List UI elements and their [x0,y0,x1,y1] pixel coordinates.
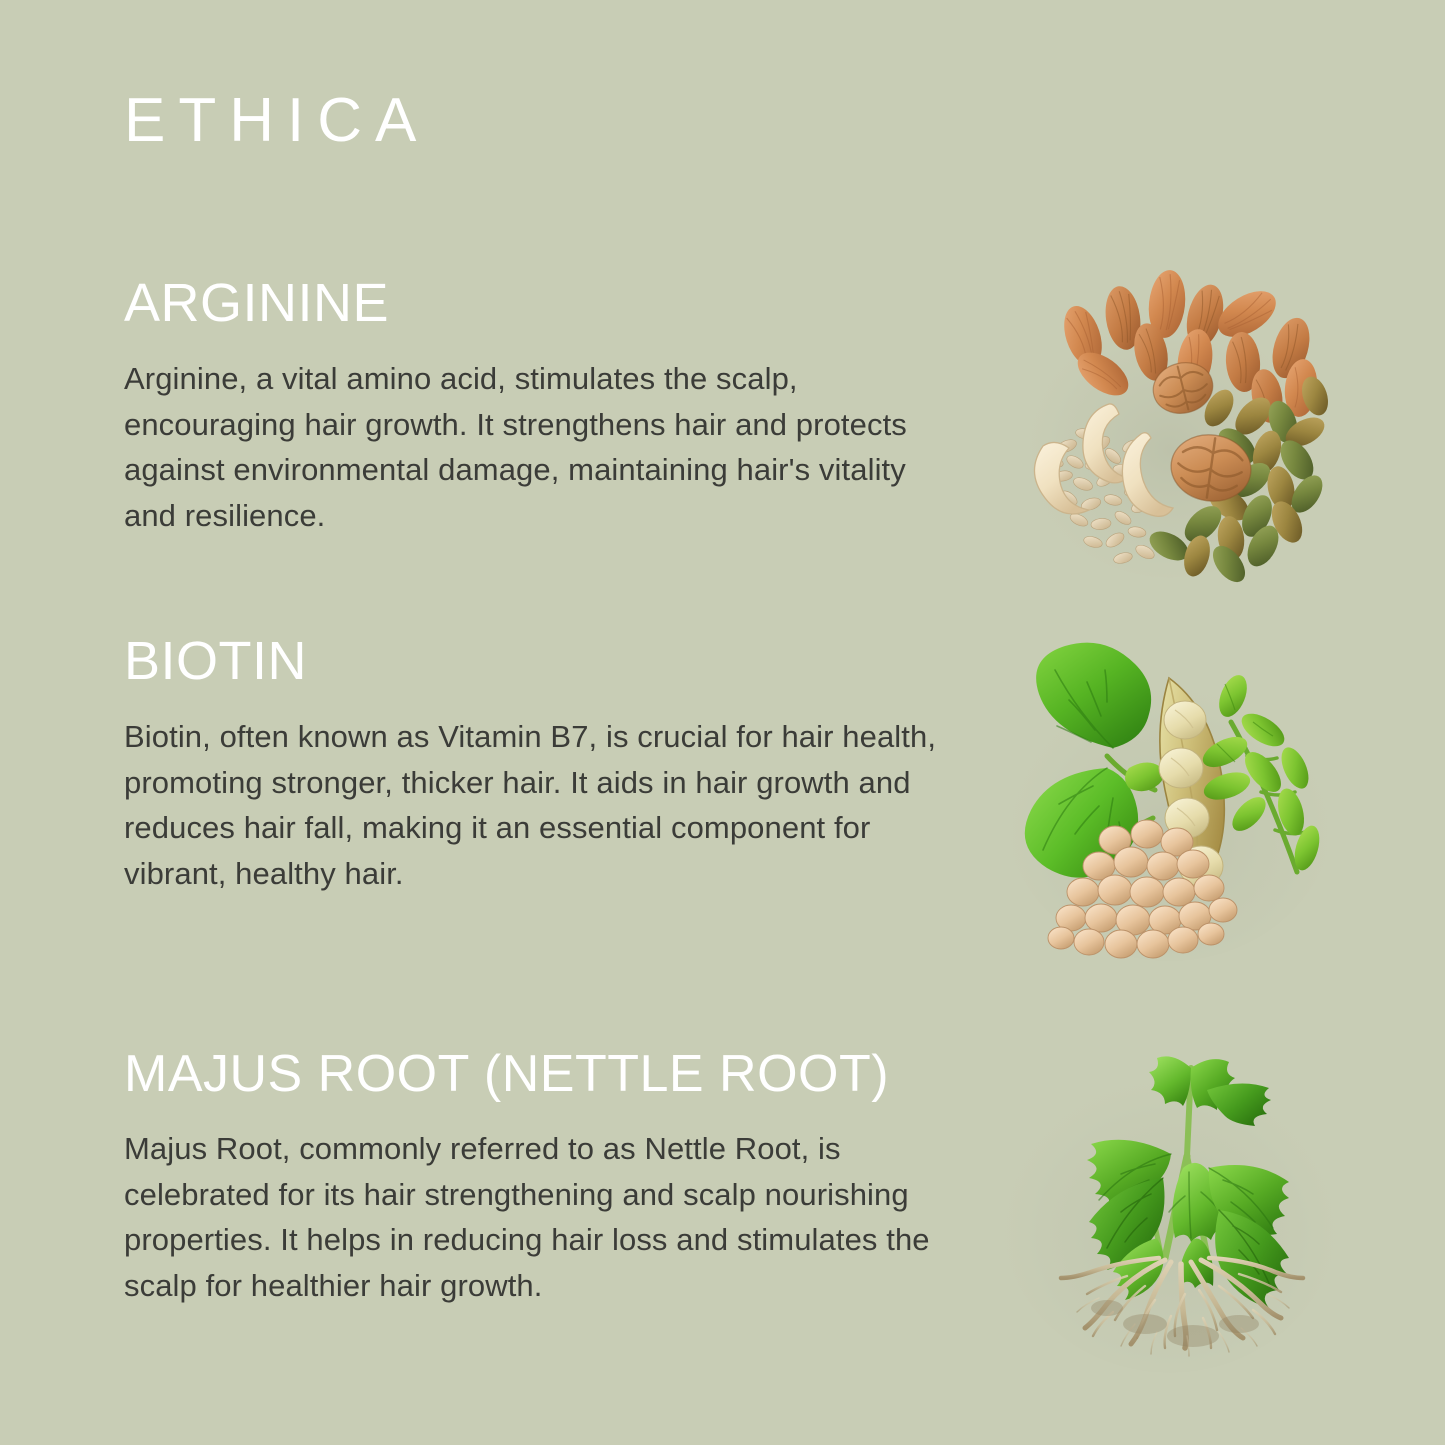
soybean-plant-photo [995,626,1345,966]
nettle-plant-with-roots-photo [995,1028,1345,1378]
section-body-biotin: Biotin, often known as Vitamin B7, is cr… [124,714,954,896]
section-biotin: BIOTIN Biotin, often known as Vitamin B7… [124,632,954,897]
section-title-arginine: ARGININE [124,274,954,332]
section-title-majus-root: MAJUS ROOT (NETTLE ROOT) [124,1046,954,1102]
section-arginine: ARGININE Arginine, a vital amino acid, s… [124,274,954,539]
section-body-majus-root: Majus Root, commonly referred to as Nett… [124,1126,954,1308]
section-majus-root: MAJUS ROOT (NETTLE ROOT) Majus Root, com… [124,1046,954,1308]
brand-logo-text: ETHICA [124,90,429,152]
section-title-biotin: BIOTIN [124,632,954,690]
section-body-arginine: Arginine, a vital amino acid, stimulates… [124,356,954,538]
ingredient-infographic: ETHICA ARGININE Arginine, a vital amino … [0,0,1445,1445]
mixed-nuts-and-seeds-photo [1005,256,1335,586]
